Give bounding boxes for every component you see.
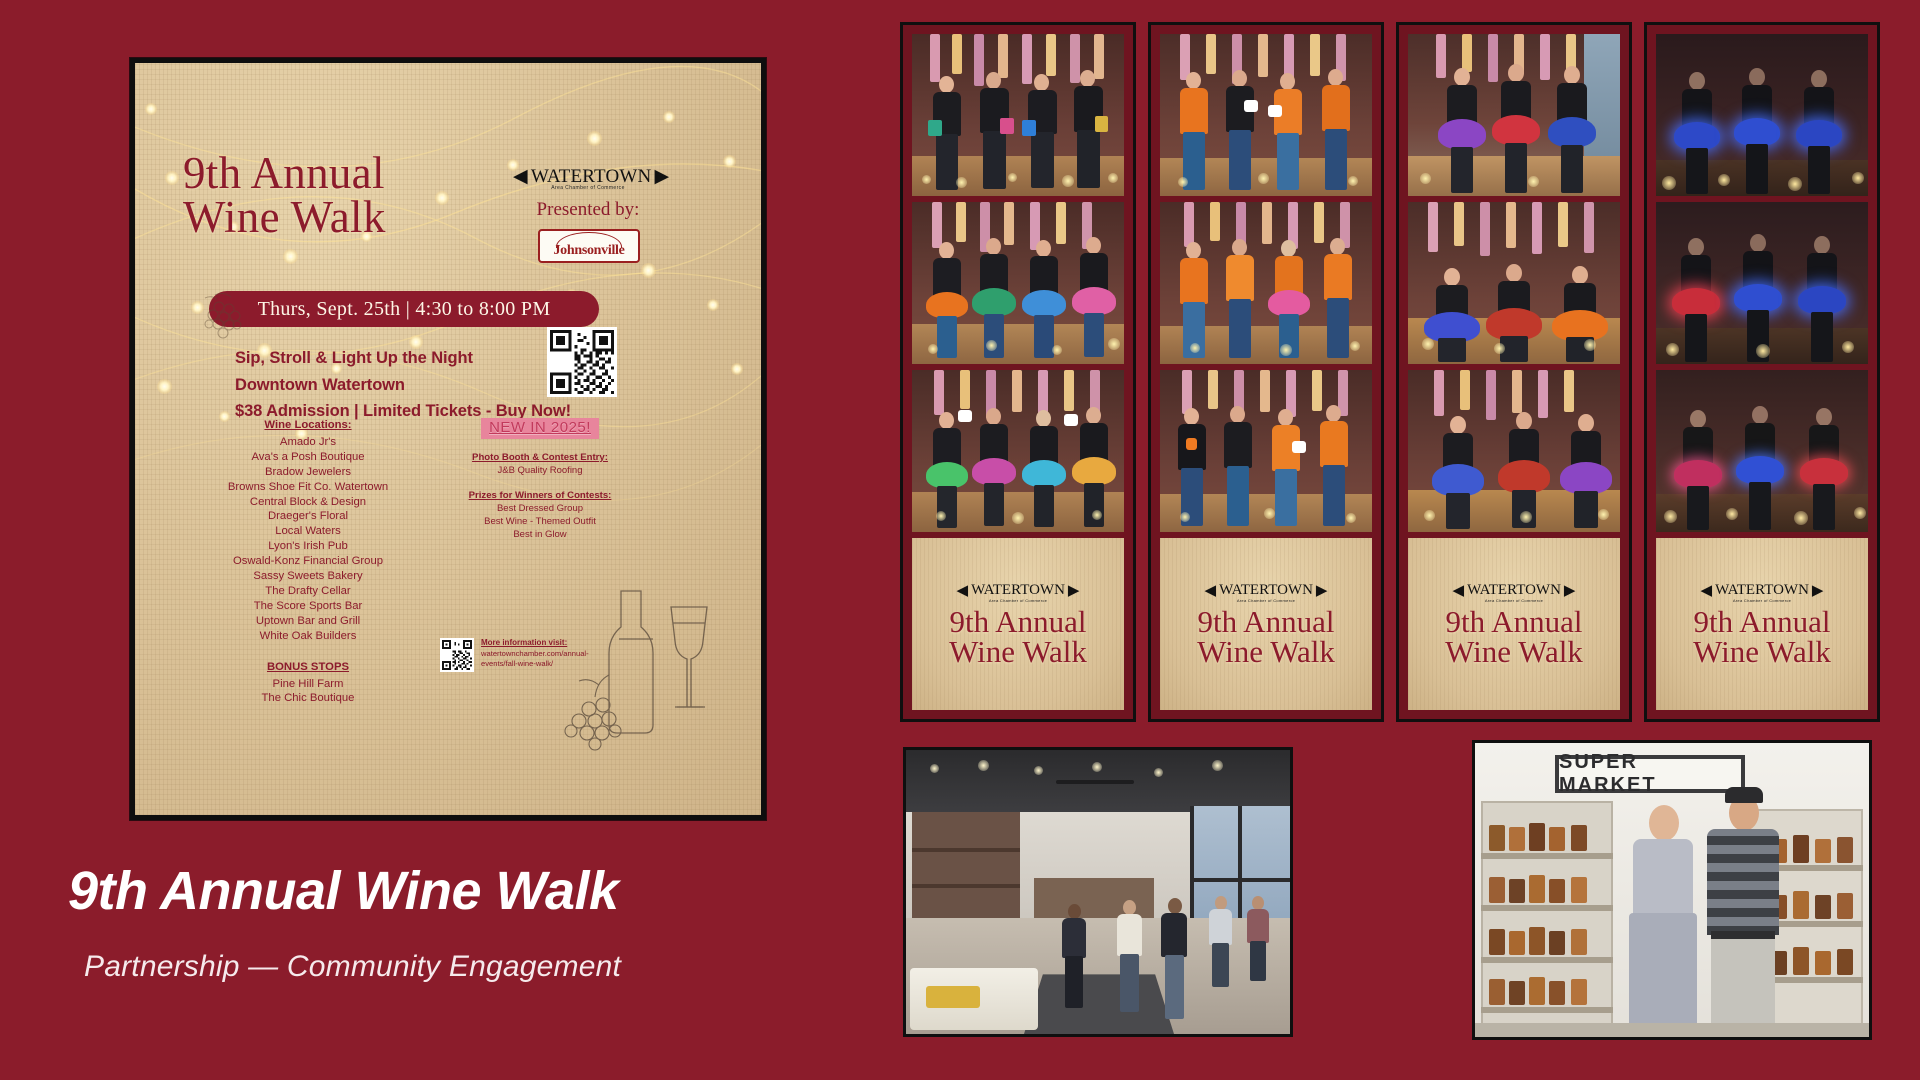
left-arrow-icon: ◀ (957, 581, 969, 600)
qr-code-tickets[interactable] (547, 327, 617, 397)
chamber-logo-text: WATERTOWN (1715, 582, 1809, 599)
person-woman (1625, 805, 1701, 1037)
wine-location-item: Oswald-Konz Financial Group (189, 554, 427, 569)
wine-location-item: The Drafty Cellar (189, 584, 427, 599)
wine-locations-header: Wine Locations: (189, 418, 427, 433)
wine-location-item: Lyon's Irish Pub (189, 539, 427, 554)
left-arrow-icon: ◀ (1701, 581, 1713, 600)
wine-location-item: Ava's a Posh Boutique (189, 450, 427, 465)
wine-location-item: Sassy Sweets Bakery (189, 569, 427, 584)
bonus-stops-block: BONUS STOPS Pine Hill Farm The Chic Bout… (189, 660, 427, 707)
wine-location-item: Amado Jr's (189, 435, 427, 450)
strip-footer-title-line2: Wine Walk (1693, 637, 1831, 667)
right-arrow-icon: ▶ (1316, 581, 1328, 600)
right-arrow-icon: ▶ (1564, 581, 1576, 600)
page-subtitle: Partnership — Community Engagement (84, 950, 621, 984)
wine-location-item: The Score Sports Bar (189, 599, 427, 614)
slide-canvas: 9th Annual Wine Walk ◀ WATERTOWN ▶ Area … (0, 0, 1920, 1080)
chamber-logo-subtitle: Area Chamber of Commerce (989, 598, 1047, 603)
grapes-sketch-decoration (193, 289, 249, 347)
poster-canvas: 9th Annual Wine Walk ◀ WATERTOWN ▶ Area … (135, 63, 761, 815)
photo-strip-footer-4: ◀ WATERTOWN ▶ Area Chamber of Commerce 9… (1656, 538, 1868, 710)
photo-group-in-light-up-tutus (1656, 370, 1868, 532)
left-arrow-icon: ◀ (1205, 581, 1217, 600)
photo-group-in-orange-with-pink-tutu (1160, 202, 1372, 364)
photo-group-in-neon-tutus-holding-signs (912, 370, 1124, 532)
qr-code-more-info[interactable] (440, 638, 474, 672)
page-title: 9th Annual Wine Walk (68, 860, 619, 922)
photo-group-in-halloween-pumpkin-shirts (1160, 370, 1372, 532)
bonus-stop-item: Pine Hill Farm (189, 677, 427, 692)
photo-group-with-glowing-blue-lights (1656, 34, 1868, 196)
prize-item: Best Wine - Themed Outfit (435, 515, 645, 528)
photo-duo-in-blue-and-red-tutus (1408, 370, 1620, 532)
photo-strip-4[interactable]: ◀ WATERTOWN ▶ Area Chamber of Commerce 9… (1644, 22, 1880, 722)
left-arrow-icon: ◀ (1453, 581, 1465, 600)
photo-group-with-orange-and-pink-tutus (912, 202, 1124, 364)
wine-location-item: Draeger's Floral (189, 509, 427, 524)
photo-booth-header: Photo Booth & Contest Entry: (435, 451, 645, 464)
bonus-stop-item: The Chic Boutique (189, 691, 427, 706)
strip-footer-title: 9th Annual Wine Walk (949, 607, 1087, 668)
presented-by-label: Presented by: (513, 199, 663, 221)
chamber-logo-subtitle: Area Chamber of Commerce (1485, 598, 1543, 603)
bonus-stops-header: BONUS STOPS (189, 660, 427, 675)
strip-footer-title-line2: Wine Walk (1197, 637, 1335, 667)
prize-item: Best Dressed Group (435, 502, 645, 515)
photo-boutique-shop-interior-with-shoppers[interactable] (903, 747, 1293, 1037)
wine-walk-poster[interactable]: 9th Annual Wine Walk ◀ WATERTOWN ▶ Area … (130, 58, 766, 820)
wine-locations-block: Wine Locations: Amado Jr's Ava's a Posh … (189, 418, 427, 706)
photo-trio-in-purple-and-red-tutus (1408, 34, 1620, 196)
right-arrow-icon: ▶ (1812, 581, 1824, 600)
chamber-logo-subtitle: Area Chamber of Commerce (1237, 598, 1295, 603)
photo-group-in-black-tees-with-tote-bags (912, 34, 1124, 196)
left-arrow-icon: ◀ (513, 165, 528, 188)
strip-footer-title-line1: 9th Annual (949, 607, 1087, 637)
poster-title-line2: Wine Walk (183, 195, 493, 239)
prizes-header: Prizes for Winners of Contests: (435, 489, 645, 502)
tagline-1: Sip, Stroll & Light Up the Night (235, 345, 571, 372)
strip-footer-title: 9th Annual Wine Walk (1693, 607, 1831, 668)
prize-item: Best in Glow (435, 528, 645, 541)
right-arrow-icon: ▶ (1068, 581, 1080, 600)
wine-location-item: Central Block & Design (189, 495, 427, 510)
photo-strip-3[interactable]: ◀ WATERTOWN ▶ Area Chamber of Commerce 9… (1396, 22, 1632, 722)
photo-group-in-orange-shirts-with-props (1160, 34, 1372, 196)
poster-title-line1: 9th Annual (183, 151, 493, 195)
strip-footer-title-line1: 9th Annual (1693, 607, 1831, 637)
poster-taglines: Sip, Stroll & Light Up the Night Downtow… (235, 345, 571, 425)
wine-location-item: Uptown Bar and Grill (189, 614, 427, 629)
strip-footer-title: 9th Annual Wine Walk (1445, 607, 1583, 668)
chamber-logo-text: WATERTOWN (971, 582, 1065, 599)
photo-strip-footer-3: ◀ WATERTOWN ▶ Area Chamber of Commerce 9… (1408, 538, 1620, 710)
wine-location-item: Local Waters (189, 524, 427, 539)
strip-footer-title-line2: Wine Walk (949, 637, 1087, 667)
right-arrow-icon: ▶ (654, 165, 669, 188)
person-man (1701, 787, 1785, 1037)
photo-strip-footer-1: ◀ WATERTOWN ▶ Area Chamber of Commerce 9… (912, 538, 1124, 710)
watertown-chamber-logo: ◀ WATERTOWN ▶ Area Chamber of Commerce (513, 165, 663, 191)
poster-title: 9th Annual Wine Walk (183, 151, 493, 239)
wine-bottle-and-glass-sketch (555, 573, 735, 753)
photo-group-crouching-in-tutus (1408, 202, 1620, 364)
chamber-logo-text: WATERTOWN (1219, 582, 1313, 599)
photo-booth-sponsor: J&B Quality Roofing (435, 464, 645, 477)
photo-couple-posing-in-super-market-shop[interactable]: SUPER MARKET (1472, 740, 1872, 1040)
photo-group-with-glowing-red-and-blue-lights (1656, 202, 1868, 364)
chamber-logo-text: WATERTOWN (1467, 582, 1561, 599)
event-date-bar: Thurs, Sept. 25th | 4:30 to 8:00 PM (209, 291, 599, 327)
strip-footer-title: 9th Annual Wine Walk (1197, 607, 1335, 668)
strip-footer-title-line1: 9th Annual (1445, 607, 1583, 637)
strip-footer-title-line1: 9th Annual (1197, 607, 1335, 637)
strip-footer-title-line2: Wine Walk (1445, 637, 1583, 667)
photo-strip-1[interactable]: ◀ WATERTOWN ▶ Area Chamber of Commerce 9… (900, 22, 1136, 722)
photo-strip-2[interactable]: ◀ WATERTOWN ▶ Area Chamber of Commerce 9… (1148, 22, 1384, 722)
photo-strip-footer-2: ◀ WATERTOWN ▶ Area Chamber of Commerce 9… (1160, 538, 1372, 710)
new-in-2025-badge: NEW IN 2025! (481, 418, 599, 439)
new-in-2025-block: NEW IN 2025! Photo Booth & Contest Entry… (435, 418, 645, 542)
wine-location-item: Browns Shoe Fit Co. Watertown (189, 480, 427, 495)
left-panel: 9th Annual Wine Walk ◀ WATERTOWN ▶ Area … (0, 0, 900, 1080)
tagline-2: Downtown Watertown (235, 372, 571, 399)
wine-location-item: Bradow Jewelers (189, 465, 427, 480)
chamber-logo-subtitle: Area Chamber of Commerce (1733, 598, 1791, 603)
wine-location-item: White Oak Builders (189, 629, 427, 644)
sponsor-arc-decoration (556, 232, 622, 248)
johnsonville-sponsor-logo: Johnsonville (538, 229, 640, 263)
